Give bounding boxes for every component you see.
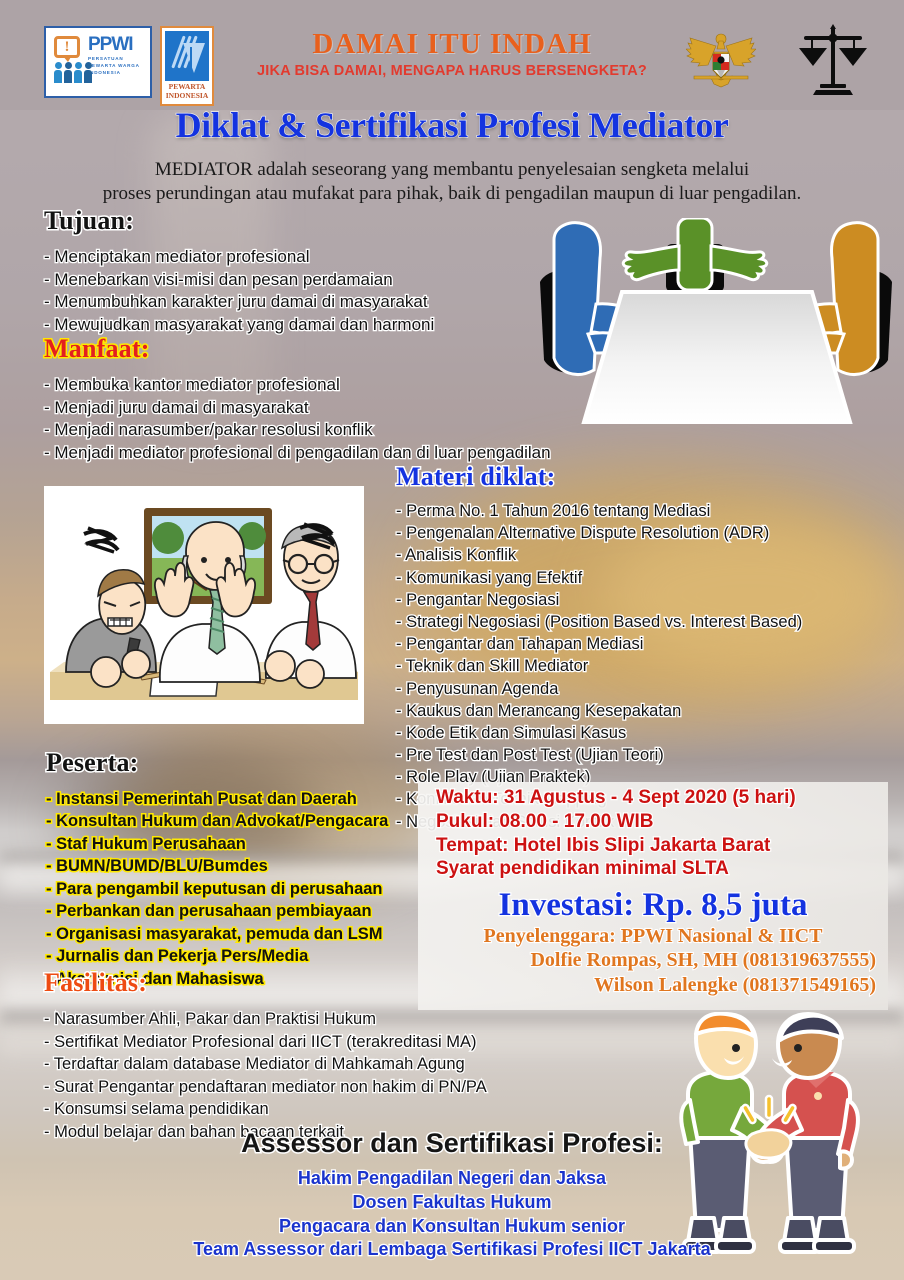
list-item: - Pre Test dan Post Test (Ujian Teori): [396, 744, 802, 766]
event-tempat: Tempat: Hotel Ibis Slipi Jakarta Barat: [418, 834, 888, 858]
list-item: - Para pengambil keputusan di perusahaan: [46, 878, 388, 900]
list-item: - Menebarkan visi-misi dan pesan perdama…: [44, 269, 434, 292]
list-item: - Staf Hukum Perusahaan: [46, 833, 388, 855]
list-item: - Analisis Konflik: [396, 544, 802, 566]
intro-paragraph: MEDIATOR adalah seseorang yang membantu …: [60, 158, 844, 207]
page-title: Diklat & Sertifikasi Profesi Mediator: [0, 104, 904, 146]
list-item: - Sertifikat Mediator Profesional dari I…: [44, 1031, 487, 1054]
list-item: - Perma No. 1 Tahun 2016 tentang Mediasi: [396, 500, 802, 522]
section-fasilitas: Fasilitas: - Narasumber Ahli, Pakar dan …: [44, 968, 487, 1144]
section-peserta: Peserta: - Instansi Pemerintah Pusat dan…: [46, 748, 388, 990]
mediation-table-illustration: [540, 218, 892, 430]
event-investasi: Investasi: Rp. 8,5 juta: [418, 887, 888, 924]
materi-heading: Materi diklat:: [396, 462, 802, 492]
peserta-heading: Peserta:: [46, 748, 388, 778]
mediation-cartoon-illustration: [44, 486, 364, 724]
event-contact-2: Wilson Lalengke (081371549165): [418, 973, 888, 997]
list-item: Dosen Fakultas Hukum: [0, 1191, 904, 1215]
event-contact-1: Dolfie Rompas, SH, MH (081319637555): [418, 948, 888, 972]
garuda-pancasila-icon: [686, 24, 756, 96]
manfaat-list: - Membuka kantor mediator profesional - …: [44, 374, 551, 464]
event-penyelenggara: Penyelenggara: PPWI Nasional & IICT: [418, 924, 888, 948]
list-item: - Menjadi juru damai di masyarakat: [44, 397, 551, 420]
list-item: - Narasumber Ahli, Pakar dan Praktisi Hu…: [44, 1008, 487, 1031]
section-tujuan: Tujuan: - Menciptakan mediator profesion…: [44, 206, 434, 336]
list-item: - Jurnalis dan Pekerja Pers/Media: [46, 945, 388, 967]
list-item: Team Assessor dari Lembaga Sertifikasi P…: [0, 1238, 904, 1262]
tujuan-list: - Menciptakan mediator profesional - Men…: [44, 246, 434, 336]
list-item: - Konsultan Hukum dan Advokat/Pengacara: [46, 810, 388, 832]
event-waktu: Waktu: 31 Agustus - 4 Sept 2020 (5 hari): [418, 786, 888, 810]
list-item: - Kode Etik dan Simulasi Kasus: [396, 722, 802, 744]
peserta-list: - Instansi Pemerintah Pusat dan Daerah -…: [46, 788, 388, 990]
list-item: - Teknik dan Skill Mediator: [396, 655, 802, 677]
list-item: - BUMN/BUMD/BLU/Bumdes: [46, 855, 388, 877]
list-item: - Menciptakan mediator profesional: [44, 246, 434, 269]
assessor-list: Hakim Pengadilan Negeri dan Jaksa Dosen …: [0, 1167, 904, 1262]
list-item: - Kaukus dan Merancang Kesepakatan: [396, 700, 802, 722]
list-item: Hakim Pengadilan Negeri dan Jaksa: [0, 1167, 904, 1191]
pewarta-line-1: PEWARTA: [162, 82, 212, 91]
list-item: - Instansi Pemerintah Pusat dan Daerah: [46, 788, 388, 810]
list-item: - Penyusunan Agenda: [396, 678, 802, 700]
list-item: Pengacara dan Konsultan Hukum senior: [0, 1215, 904, 1239]
list-item: - Organisasi masyarakat, pemuda dan LSM: [46, 923, 388, 945]
tujuan-heading: Tujuan:: [44, 206, 434, 236]
list-item: - Konsumsi selama pendidikan: [44, 1098, 487, 1121]
intro-line-1: MEDIATOR adalah seseorang yang membantu …: [60, 158, 844, 182]
section-materi: Materi diklat: - Perma No. 1 Tahun 2016 …: [396, 462, 802, 833]
poster-canvas: ! PPWI PERSATUAN PEWARTA WARGA INDONESIA: [0, 0, 904, 1280]
manfaat-heading: Manfaat:: [44, 334, 551, 364]
fasilitas-heading: Fasilitas:: [44, 968, 487, 998]
scales-of-justice-icon: [794, 22, 872, 98]
list-item: - Terdaftar dalam database Mediator di M…: [44, 1053, 487, 1076]
list-item: - Surat Pengantar pendaftaran mediator n…: [44, 1076, 487, 1099]
section-assessor: Assessor dan Sertifikasi Profesi: Hakim …: [0, 1128, 904, 1262]
intro-line-2: proses perundingan atau mufakat para pih…: [60, 182, 844, 206]
assessor-heading: Assessor dan Sertifikasi Profesi:: [0, 1128, 904, 1159]
list-item: - Pengantar dan Tahapan Mediasi: [396, 633, 802, 655]
list-item: - Perbankan dan perusahaan pembiayaan: [46, 900, 388, 922]
event-details-content: Waktu: 31 Agustus - 4 Sept 2020 (5 hari)…: [418, 786, 888, 997]
list-item: - Membuka kantor mediator profesional: [44, 374, 551, 397]
event-pukul: Pukul: 08.00 - 17.00 WIB: [418, 810, 888, 834]
fasilitas-list: - Narasumber Ahli, Pakar dan Praktisi Hu…: [44, 1008, 487, 1144]
list-item: - Komunikasi yang Efektif: [396, 567, 802, 589]
section-manfaat: Manfaat: - Membuka kantor mediator profe…: [44, 334, 551, 464]
list-item: - Menjadi narasumber/pakar resolusi konf…: [44, 419, 551, 442]
list-item: - Pengantar Negosiasi: [396, 589, 802, 611]
list-item: - Menumbuhkan karakter juru damai di mas…: [44, 291, 434, 314]
header-logos-right: [686, 22, 872, 98]
list-item: - Strategi Negosiasi (Position Based vs.…: [396, 611, 802, 633]
pewarta-line-2: INDONESIA: [162, 91, 212, 100]
event-syarat: Syarat pendidikan minimal SLTA: [418, 857, 888, 881]
list-item: - Pengenalan Alternative Dispute Resolut…: [396, 522, 802, 544]
